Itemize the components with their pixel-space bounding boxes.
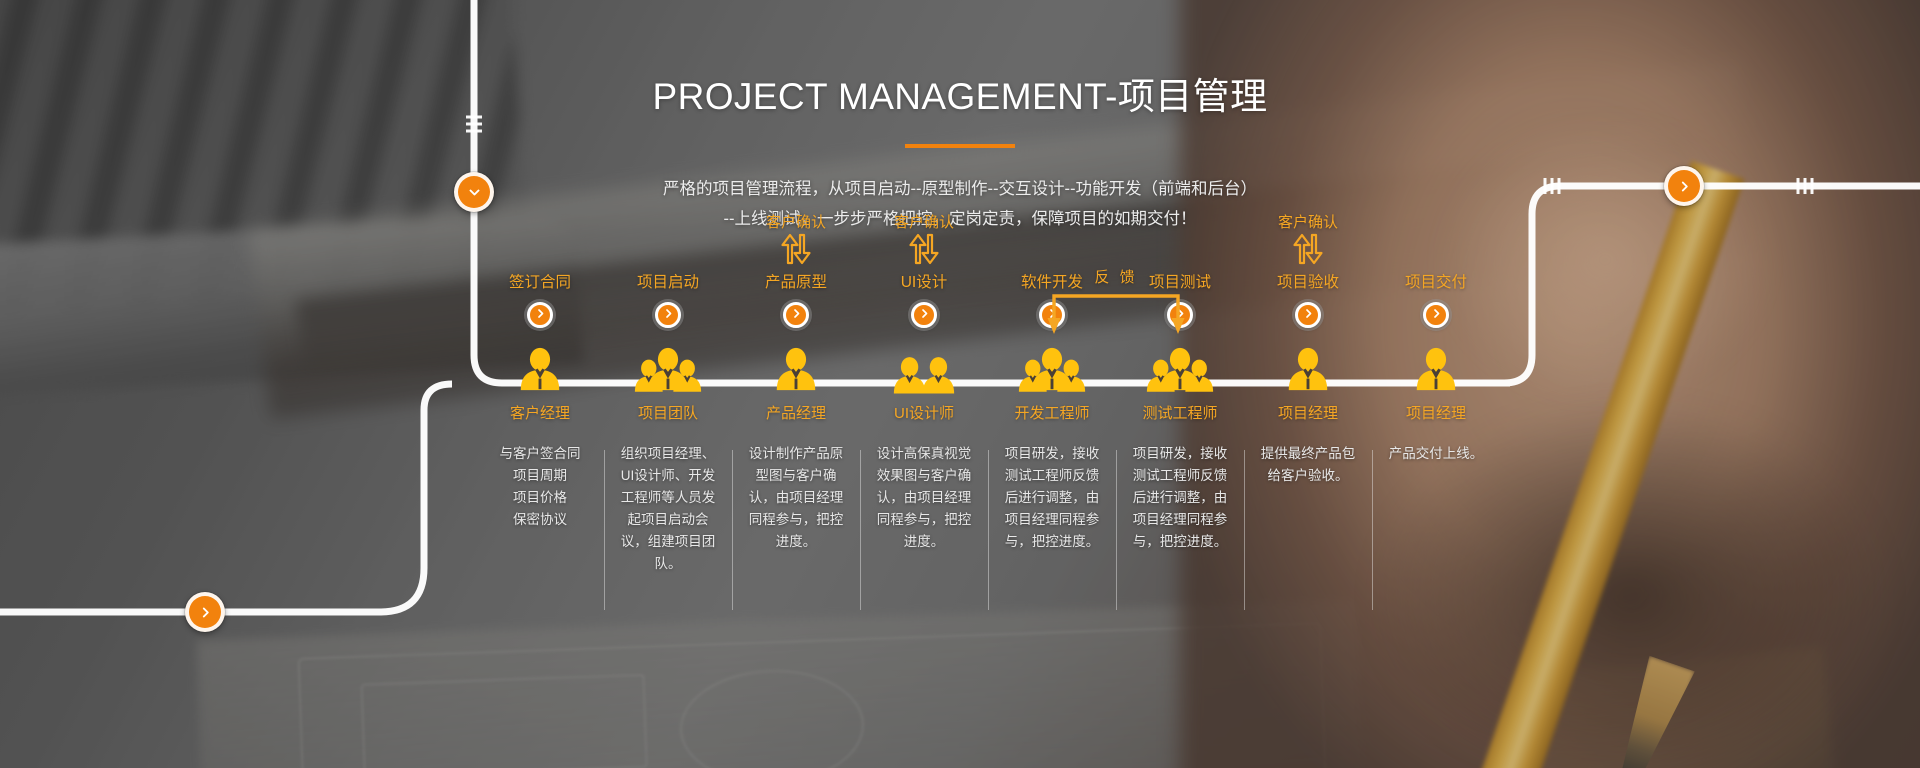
column-divider — [1116, 450, 1117, 610]
feedback-bracket-icon — [1046, 288, 1186, 342]
single-person-icon — [1248, 338, 1368, 396]
page-header: PROJECT MANAGEMENT-项目管理 严格的项目管理流程，从项目启动-… — [0, 0, 1920, 234]
step-role: 项目经理 — [1248, 402, 1368, 423]
two-way-arrows-icon — [736, 232, 856, 266]
step-role: UI设计师 — [864, 402, 984, 423]
step-description: 项目研发，接收测试工程师反馈后进行调整，由项目经理同程参与，把控进度。 — [1128, 443, 1232, 553]
step-marker-button[interactable] — [1423, 302, 1449, 328]
step-title: 产品原型 — [736, 270, 856, 292]
step-description: 设计制作产品原型图与客户确认，由项目经理同程参与，把控进度。 — [744, 443, 848, 553]
step-description: 与客户签合同项目周期项目价格保密协议 — [488, 443, 592, 531]
step-marker-wrap — [736, 292, 856, 338]
step-marker-wrap — [1376, 292, 1496, 338]
step-description: 项目研发，接收测试工程师反馈后进行调整，由项目经理同程参与，把控进度。 — [1000, 443, 1104, 553]
column-divider — [860, 450, 861, 610]
chevron-right-icon — [791, 306, 802, 324]
feedback-bracket: 反 馈 — [1046, 288, 1186, 348]
customer-confirm-group: 客户确认 — [864, 211, 984, 270]
step-marker-button[interactable] — [655, 302, 681, 328]
chevron-right-icon — [1303, 306, 1314, 324]
customer-confirm-group: 客户确认 — [1248, 211, 1368, 270]
step-role: 项目经理 — [1376, 402, 1496, 423]
subtitle-line-1: 严格的项目管理流程，从项目启动--原型制作--交互设计--功能开发（前端和后台） — [0, 174, 1920, 204]
chevron-right-icon — [1431, 306, 1442, 324]
step-title: 项目交付 — [1376, 270, 1496, 292]
chevron-right-icon — [663, 306, 674, 324]
customer-confirm-group: 客户确认 — [736, 211, 856, 270]
step-description: 产品交付上线。 — [1384, 443, 1488, 465]
two-way-arrows-icon — [1248, 232, 1368, 266]
step-title: 项目验收 — [1248, 270, 1368, 292]
step-marker-wrap — [864, 292, 984, 338]
timeline-step: 客户确认 项目验收 项目经理 提供最终产品包给客户验收。 — [1248, 270, 1368, 487]
timeline-step: 客户确认 UI设计 UI设计师 设计高保真视觉效果图与客户确认，由项目经理同程参… — [864, 270, 984, 553]
step-description: 设计高保真视觉效果图与客户确认，由项目经理同程参与，把控进度。 — [872, 443, 976, 553]
step-marker-button[interactable] — [527, 302, 553, 328]
single-person-icon — [736, 338, 856, 396]
duo-person-icon — [864, 338, 984, 396]
step-marker-button[interactable] — [911, 302, 937, 328]
feedback-label: 反 馈 — [1046, 266, 1186, 287]
column-divider — [1372, 450, 1373, 610]
step-marker-wrap — [480, 292, 600, 338]
step-description: 提供最终产品包给客户验收。 — [1256, 443, 1360, 487]
step-role: 客户经理 — [480, 402, 600, 423]
two-way-arrows-icon — [864, 232, 984, 266]
chevron-right-icon — [919, 306, 930, 324]
step-role: 开发工程师 — [992, 402, 1112, 423]
page-title: PROJECT MANAGEMENT-项目管理 — [0, 66, 1920, 120]
step-role: 测试工程师 — [1120, 402, 1240, 423]
step-marker-button[interactable] — [1295, 302, 1321, 328]
single-person-icon — [1376, 338, 1496, 396]
timeline-step: 签订合同 客户经理 与客户签合同项目周期项目价格保密协议 — [480, 270, 600, 531]
project-timeline: 签订合同 客户经理 与客户签合同项目周期项目价格保密协议项目启动 项目团队 — [480, 270, 1440, 740]
customer-confirm-label: 客户确认 — [736, 211, 856, 232]
column-divider — [988, 450, 989, 610]
timeline-step: 项目启动 项目团队 组织项目经理、UI设计师、开发工程师等人员发起项目启动会议，… — [608, 270, 728, 575]
step-role: 项目团队 — [608, 402, 728, 423]
timeline-step: 客户确认 产品原型 产品经理 设计制作产品原型图与客户确认，由项目经理同程参与，… — [736, 270, 856, 553]
step-marker-wrap — [1248, 292, 1368, 338]
step-title: 签订合同 — [480, 270, 600, 292]
timeline-step: 项目交付 项目经理 产品交付上线。 — [1376, 270, 1496, 465]
group-person-icon — [608, 338, 728, 396]
column-divider — [604, 450, 605, 610]
step-description: 组织项目经理、UI设计师、开发工程师等人员发起项目启动会议，组建项目团队。 — [616, 443, 720, 575]
step-marker-button[interactable] — [783, 302, 809, 328]
step-role: 产品经理 — [736, 402, 856, 423]
step-title: 项目启动 — [608, 270, 728, 292]
customer-confirm-label: 客户确认 — [864, 211, 984, 232]
customer-confirm-label: 客户确认 — [1248, 211, 1368, 232]
single-person-icon — [480, 338, 600, 396]
title-underline-rule — [905, 144, 1015, 148]
chevron-right-icon — [199, 606, 212, 619]
column-divider — [1244, 450, 1245, 610]
step-title: UI设计 — [864, 270, 984, 292]
rail-button-left-forward[interactable] — [185, 592, 225, 632]
step-marker-wrap — [608, 292, 728, 338]
chevron-right-icon — [535, 306, 546, 324]
column-divider — [732, 450, 733, 610]
